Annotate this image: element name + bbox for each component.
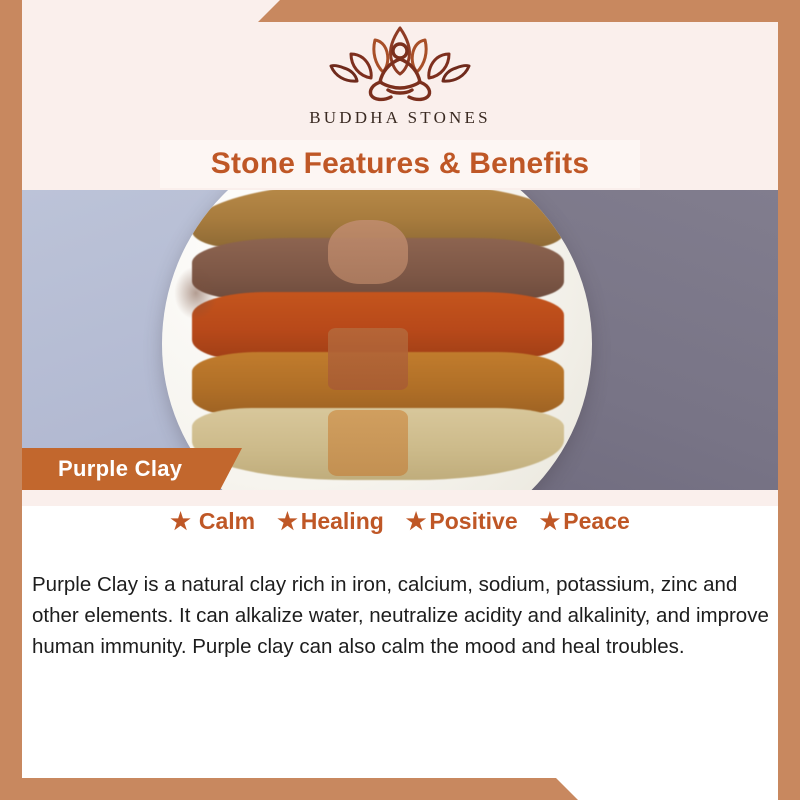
- star-icon: ★: [170, 510, 191, 533]
- benefit-label: Calm: [199, 508, 255, 535]
- infographic-page: BUDDHA STONES Stone Features & Benefits …: [0, 0, 800, 800]
- benefit-item-healing: ★ Healing: [277, 508, 384, 535]
- brand-logo: BUDDHA STONES: [0, 18, 800, 128]
- benefit-label: Peace: [563, 508, 630, 535]
- powder-swatch-gold: [328, 410, 408, 476]
- product-photo: [22, 190, 778, 490]
- frame-border-bottom: [0, 778, 800, 800]
- header-section: BUDDHA STONES Stone Features & Benefits: [0, 0, 800, 190]
- content-top-strip: [22, 490, 778, 506]
- frame-border-right: [778, 0, 800, 800]
- benefit-item-peace: ★ Peace: [540, 508, 630, 535]
- powder-scatter: [174, 266, 218, 320]
- lotus-meditation-icon: [315, 18, 485, 106]
- star-icon: ★: [540, 510, 561, 533]
- frame-border-left: [0, 0, 22, 800]
- benefit-label: Positive: [429, 508, 517, 535]
- benefits-row: ★ Calm ★ Healing ★ Positive ★ Peace: [22, 508, 778, 535]
- benefit-label: Healing: [301, 508, 384, 535]
- product-description: Purple Clay is a natural clay rich in ir…: [32, 569, 772, 662]
- product-label-text: Purple Clay: [58, 456, 182, 482]
- content-panel: ★ Calm ★ Healing ★ Positive ★ Peace Purp…: [22, 490, 778, 778]
- white-plate: [162, 190, 592, 490]
- page-title: Stone Features & Benefits: [211, 147, 589, 181]
- benefit-item-positive: ★ Positive: [406, 508, 518, 535]
- brand-name: BUDDHA STONES: [0, 108, 800, 128]
- star-icon: ★: [406, 510, 427, 533]
- product-label-banner: Purple Clay: [22, 448, 242, 490]
- powder-swatch-rust: [328, 328, 408, 390]
- powder-swatch-tan: [328, 220, 408, 284]
- benefit-item-calm: ★ Calm: [170, 508, 255, 535]
- star-icon: ★: [277, 510, 298, 533]
- title-banner: Stone Features & Benefits: [160, 140, 640, 188]
